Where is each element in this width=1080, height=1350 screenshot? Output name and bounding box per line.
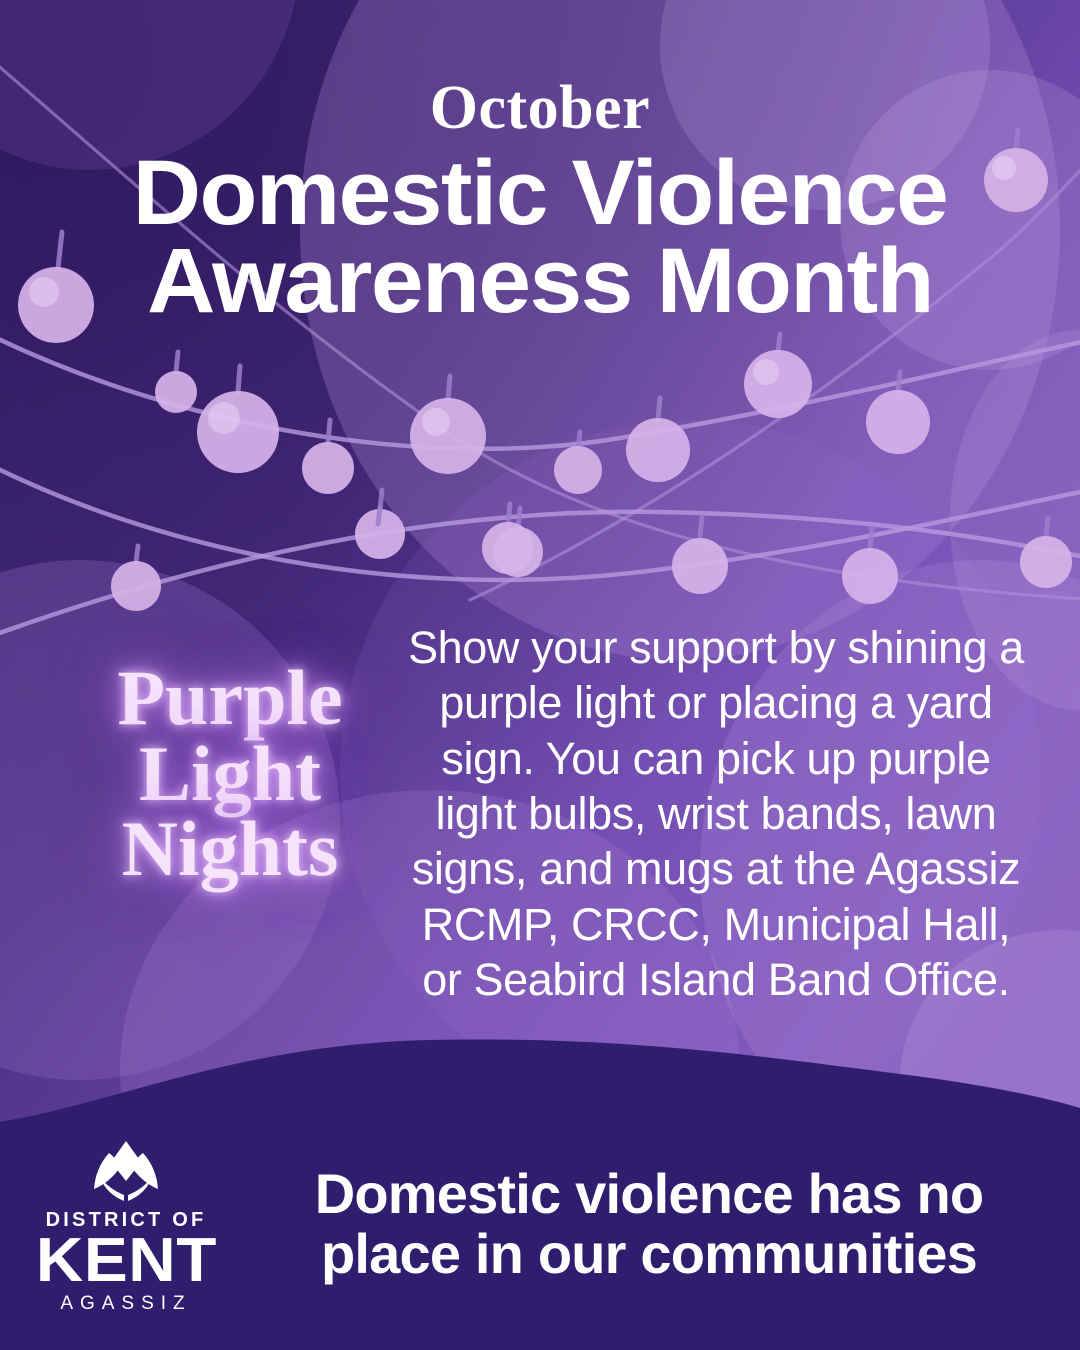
logo-region-label: AGASSIZ [60,1294,191,1313]
kent-crest-icon [80,1141,172,1203]
light-bulb [302,420,354,494]
light-bulb [378,508,380,524]
light-bulb [1020,518,1072,588]
logo-name-label: KENT [35,1232,216,1289]
body-paragraph: Show your support by shining a purple li… [404,620,1028,1007]
light-bulb [866,372,930,454]
headline-block: October Domestic Violence Awareness Mont… [0,78,1080,325]
title-line-1: Domestic Violence [0,149,1080,237]
district-of-kent-logo: DISTRICT OF KENT AGASSIZ [0,1135,252,1312]
campaign-line-3: Nights [60,811,400,887]
light-bulb [410,376,486,474]
poster-canvas: October Domestic Violence Awareness Mont… [0,0,1080,1350]
light-bulb [626,398,690,482]
tagline-line-2: place in our communities [252,1224,1046,1284]
month-label: October [0,78,1080,139]
light-bulb [672,518,728,594]
light-bulb [155,352,197,413]
light-bulb [197,366,279,473]
campaign-line-2: Light [60,736,400,812]
light-bulb [111,546,161,611]
tagline-line-1: Domestic violence has no [252,1164,1046,1224]
footer-bar: DISTRICT OF KENT AGASSIZ Domestic violen… [0,1098,1080,1350]
page-title: Domestic Violence Awareness Month [0,149,1080,326]
campaign-line-1: Purple [60,660,400,736]
title-line-2: Awareness Month [0,237,1080,325]
light-bulb [744,334,812,418]
campaign-title: Purple Light Nights [60,660,400,887]
footer-tagline: Domestic violence has no place in our co… [252,1164,1080,1285]
